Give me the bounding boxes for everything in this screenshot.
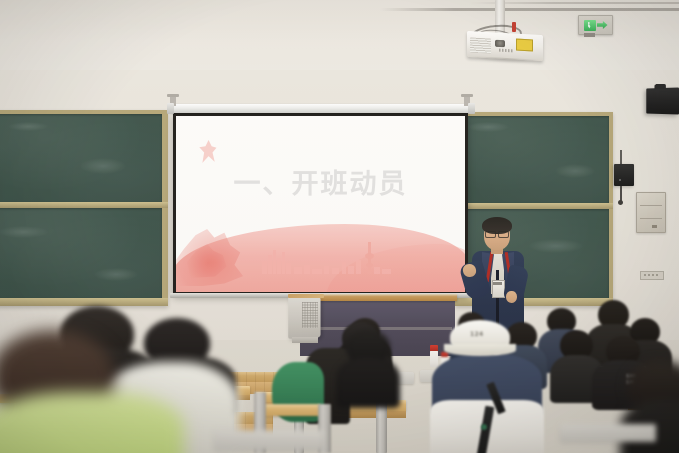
ceiling-seam bbox=[380, 8, 679, 11]
lectern-side-edge bbox=[288, 294, 324, 298]
wall-mounted-receiver bbox=[614, 164, 634, 186]
blackboard-right-panel-top bbox=[459, 116, 609, 203]
blackboard-left-panel-bottom bbox=[0, 208, 162, 298]
projector-vent-icon bbox=[470, 37, 491, 53]
slide-title: 一、开班动员 bbox=[176, 162, 465, 201]
desk-surface-foreground bbox=[258, 404, 320, 416]
wall-outlet[interactable] bbox=[640, 271, 664, 280]
audience-member-with-cap: 124 bbox=[432, 320, 542, 453]
glasses-icon bbox=[484, 231, 510, 237]
monitor-stand bbox=[292, 337, 318, 343]
classroom-scene: 一、开班动员 bbox=[0, 0, 679, 453]
presenter-badge-strip bbox=[493, 282, 502, 285]
exit-sign bbox=[578, 15, 613, 35]
seat-back-foreground bbox=[560, 424, 656, 442]
projector-lens-icon bbox=[495, 40, 505, 48]
projection-screen: 一、开班动员 bbox=[176, 116, 465, 292]
wall-speaker bbox=[646, 87, 679, 114]
tv-tower-icon bbox=[368, 242, 371, 274]
panel-latch-icon bbox=[652, 225, 657, 228]
exit-sign-mount bbox=[584, 33, 595, 37]
wall-control-panel[interactable] bbox=[636, 192, 666, 233]
blackboard-left-bottom-rail bbox=[0, 298, 168, 306]
screen-housing-cap-left bbox=[167, 103, 174, 114]
city-skyline-graphic bbox=[262, 240, 402, 274]
panel-seam-upper bbox=[640, 205, 662, 206]
glasses-bridge bbox=[495, 233, 499, 234]
cap-brim bbox=[444, 344, 516, 356]
torso bbox=[336, 358, 400, 408]
receiver-cord bbox=[620, 186, 622, 202]
screen-housing-cap-right bbox=[468, 103, 475, 114]
presenter-hand-right bbox=[506, 291, 517, 303]
audience-foreground-black-cap bbox=[336, 330, 400, 402]
antenna-icon bbox=[620, 150, 622, 165]
seat-back-foreground bbox=[214, 430, 324, 450]
cap-logo-text: 124 bbox=[470, 331, 483, 338]
running-person-icon bbox=[584, 20, 596, 31]
monitor-speaker-grille-icon bbox=[302, 302, 318, 328]
projection-screen-housing bbox=[170, 104, 470, 113]
projector-cable-tag bbox=[512, 22, 516, 32]
panel-seam-lower bbox=[640, 218, 662, 219]
projector-yellow-label bbox=[516, 39, 533, 52]
blackboard-left-panel-top bbox=[0, 114, 162, 202]
strap-buckle bbox=[481, 424, 487, 430]
arrow-right-icon bbox=[597, 21, 608, 29]
torso bbox=[0, 392, 184, 453]
audience-foreground-nearest bbox=[0, 330, 184, 453]
